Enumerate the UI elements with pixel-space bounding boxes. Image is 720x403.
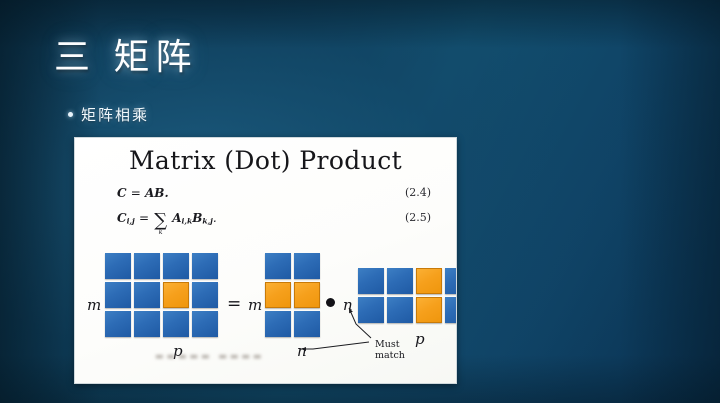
matrix-cell-highlighted	[294, 282, 320, 308]
matrix-a-col-label: n	[297, 342, 307, 360]
bullet-item: 矩阵相乘	[68, 104, 149, 125]
matrix-c-row-label: m	[87, 296, 101, 314]
matrix-cell	[445, 297, 457, 323]
dot-operator-icon	[326, 298, 335, 307]
matrix-cell	[163, 311, 189, 337]
matrix-cell	[134, 282, 160, 308]
matrix-a-row-label: m	[248, 296, 262, 314]
matrix-a	[265, 253, 320, 337]
matrix-cell	[265, 311, 291, 337]
matrix-b	[358, 268, 457, 323]
presentation-slide: 三 矩阵 矩阵相乘 Matrix (Dot) Product C = AB. (…	[0, 0, 720, 403]
bullet-point-icon	[68, 112, 73, 117]
matrix-cell	[445, 268, 457, 294]
matrix-b-col-label: p	[415, 330, 425, 348]
watermark-text: ▬▬▬▬▬ ▬▬▬▬	[155, 352, 279, 365]
matrix-cell	[105, 282, 131, 308]
matrix-cell	[192, 311, 218, 337]
matrix-cell-highlighted	[416, 297, 442, 323]
matrix-cell	[105, 253, 131, 279]
bullet-item-label: 矩阵相乘	[81, 104, 149, 125]
matrix-cell	[192, 282, 218, 308]
matrix-multiplication-diagram: m p = m n n p	[75, 248, 456, 383]
matrix-cell	[134, 311, 160, 337]
matrix-cell	[192, 253, 218, 279]
figure-title: Matrix (Dot) Product	[75, 146, 456, 175]
equation-2-5-number: (2.5)	[405, 211, 431, 224]
matrix-cell	[294, 253, 320, 279]
matrix-cell	[358, 268, 384, 294]
equation-2-4: C = AB. (2.4)	[117, 186, 442, 200]
matrix-cell	[387, 268, 413, 294]
matrix-cell-highlighted	[265, 282, 291, 308]
matrix-cell-highlighted	[416, 268, 442, 294]
matrix-cell	[294, 311, 320, 337]
must-match-line2: match	[375, 351, 405, 362]
matrix-b-row-label: n	[343, 296, 353, 314]
equation-2-5-body: Ci,j = ∑ k Ai,kBk,j.	[117, 211, 217, 235]
matrix-cell	[163, 253, 189, 279]
matrix-cell	[134, 253, 160, 279]
matrix-cell	[358, 297, 384, 323]
matrix-c	[105, 253, 218, 337]
matrix-cell	[105, 311, 131, 337]
equals-operator: =	[227, 294, 241, 314]
equation-2-4-body: C = AB.	[117, 186, 169, 200]
equation-2-5: Ci,j = ∑ k Ai,kBk,j. (2.5)	[117, 211, 442, 235]
matrix-cell	[265, 253, 291, 279]
equation-2-4-number: (2.4)	[405, 186, 431, 199]
figure-panel: Matrix (Dot) Product C = AB. (2.4) Ci,j …	[74, 137, 457, 384]
page-title: 三 矩阵	[54, 28, 197, 80]
must-match-annotation: Must match	[375, 340, 405, 361]
matrix-cell-highlighted	[163, 282, 189, 308]
summation-symbol: ∑ k	[154, 214, 167, 235]
matrix-cell	[387, 297, 413, 323]
